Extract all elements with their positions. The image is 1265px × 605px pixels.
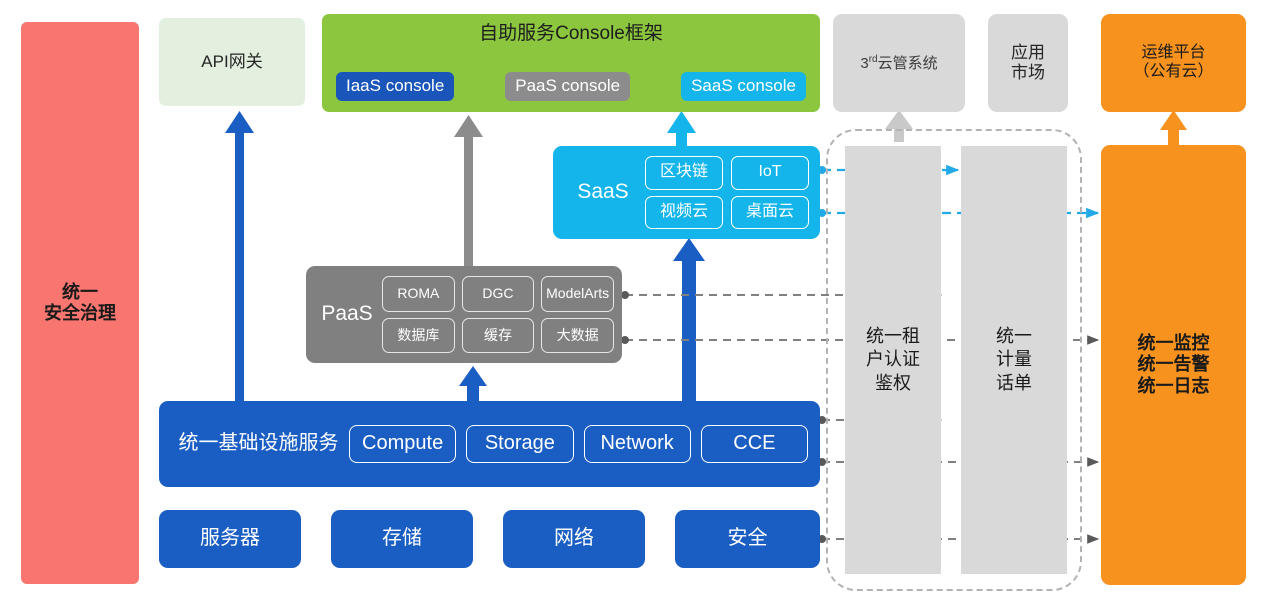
- paas-service-grid: ROMA DGC ModelArts 数据库 缓存 大数据: [382, 276, 614, 353]
- unified-monitoring-panel: 统一监控 统一告警 统一日志: [1101, 145, 1246, 585]
- infra-service-storage[interactable]: Storage: [466, 425, 573, 463]
- saas-layer: SaaS 区块链 IoT 视频云 桌面云: [553, 146, 820, 239]
- paas-layer: PaaS ROMA DGC ModelArts 数据库 缓存 大数据: [306, 266, 622, 363]
- hardware-box-security-label: 安全: [728, 527, 768, 551]
- hardware-box-storage-label: 存储: [382, 527, 422, 551]
- third-party-cloud-management-label: 3rd云管系统: [860, 54, 937, 73]
- app-market-label: 应用 市场: [1011, 43, 1045, 83]
- unified-infrastructure-service-label: 统一基础设施服务: [171, 401, 346, 487]
- saas-service-video-cloud[interactable]: 视频云: [645, 196, 723, 230]
- saas-service-iot[interactable]: IoT: [731, 156, 809, 190]
- paas-service-cache[interactable]: 缓存: [462, 318, 535, 354]
- console-frame-title: 自助服务Console框架: [322, 23, 820, 45]
- arrow-saas-to-saas-console: [667, 111, 696, 149]
- paas-console-chip[interactable]: PaaS console: [505, 72, 630, 101]
- api-gateway-box: API网关: [159, 18, 305, 106]
- unified-tenant-auth-label: 统一租 户认证 鉴权: [866, 325, 920, 395]
- paas-layer-label: PaaS: [312, 266, 382, 363]
- infra-service-cce[interactable]: CCE: [701, 425, 808, 463]
- paas-service-modelarts[interactable]: ModelArts: [541, 276, 614, 312]
- infrastructure-service-chips: Compute Storage Network CCE: [349, 401, 808, 487]
- paas-service-dgc[interactable]: DGC: [462, 276, 535, 312]
- iaas-console-chip[interactable]: IaaS console: [336, 72, 454, 101]
- hardware-box-server[interactable]: 服务器: [159, 510, 301, 568]
- hardware-box-storage[interactable]: 存储: [331, 510, 473, 568]
- saas-service-desktop-cloud[interactable]: 桌面云: [731, 196, 809, 230]
- third-party-ordinal-sup: rd: [869, 54, 878, 65]
- unified-tenant-auth-column: 统一租 户认证 鉴权: [845, 146, 941, 574]
- third-party-cloud-management-box: 3rd云管系统: [833, 14, 965, 112]
- paas-service-database[interactable]: 数据库: [382, 318, 455, 354]
- unified-metering-billing-label: 统一 计量 话单: [996, 325, 1032, 395]
- security-governance-panel: 统一 安全治理: [21, 22, 139, 584]
- console-chip-row: IaaS console PaaS console SaaS console: [336, 72, 806, 101]
- infra-service-network[interactable]: Network: [584, 425, 691, 463]
- architecture-diagram: 统一 安全治理 API网关 自助服务Console框架 IaaS console…: [0, 0, 1265, 605]
- hardware-box-security[interactable]: 安全: [675, 510, 820, 568]
- dot-paas-ops: [621, 336, 629, 344]
- arrow-ops-body-to-top: [1160, 110, 1187, 146]
- dot-paas-auth: [621, 291, 629, 299]
- unified-monitoring-label: 统一监控 统一告警 统一日志: [1138, 333, 1210, 397]
- saas-service-blockchain[interactable]: 区块链: [645, 156, 723, 190]
- unified-infrastructure-service-bar: 统一基础设施服务 Compute Storage Network CCE: [159, 401, 820, 487]
- saas-console-chip[interactable]: SaaS console: [681, 72, 806, 101]
- paas-service-bigdata[interactable]: 大数据: [541, 318, 614, 354]
- hardware-box-network[interactable]: 网络: [503, 510, 645, 568]
- app-market-box: 应用 市场: [988, 14, 1068, 112]
- infra-service-compute[interactable]: Compute: [349, 425, 456, 463]
- third-party-suffix: 云管系统: [878, 55, 938, 72]
- arrow-infra-to-saas: [673, 238, 705, 402]
- paas-service-roma[interactable]: ROMA: [382, 276, 455, 312]
- arrow-infra-to-paas: [459, 366, 487, 402]
- security-governance-label: 统一 安全治理: [44, 282, 116, 324]
- third-party-prefix: 3: [860, 55, 868, 72]
- self-service-console-frame: 自助服务Console框架 IaaS console PaaS console …: [322, 14, 820, 112]
- saas-layer-label: SaaS: [563, 146, 643, 239]
- ops-platform-public-cloud-label: 运维平台 （公有云）: [1133, 44, 1213, 82]
- hardware-box-network-label: 网络: [554, 527, 594, 551]
- ops-platform-public-cloud-box: 运维平台 （公有云）: [1101, 14, 1246, 112]
- api-gateway-label: API网关: [201, 52, 262, 72]
- hardware-box-server-label: 服务器: [200, 527, 260, 551]
- unified-metering-billing-column: 统一 计量 话单: [961, 146, 1067, 574]
- saas-service-grid: 区块链 IoT 视频云 桌面云: [645, 156, 809, 229]
- arrow-infra-to-api-gateway: [225, 111, 254, 402]
- arrow-paas-to-console: [454, 115, 483, 267]
